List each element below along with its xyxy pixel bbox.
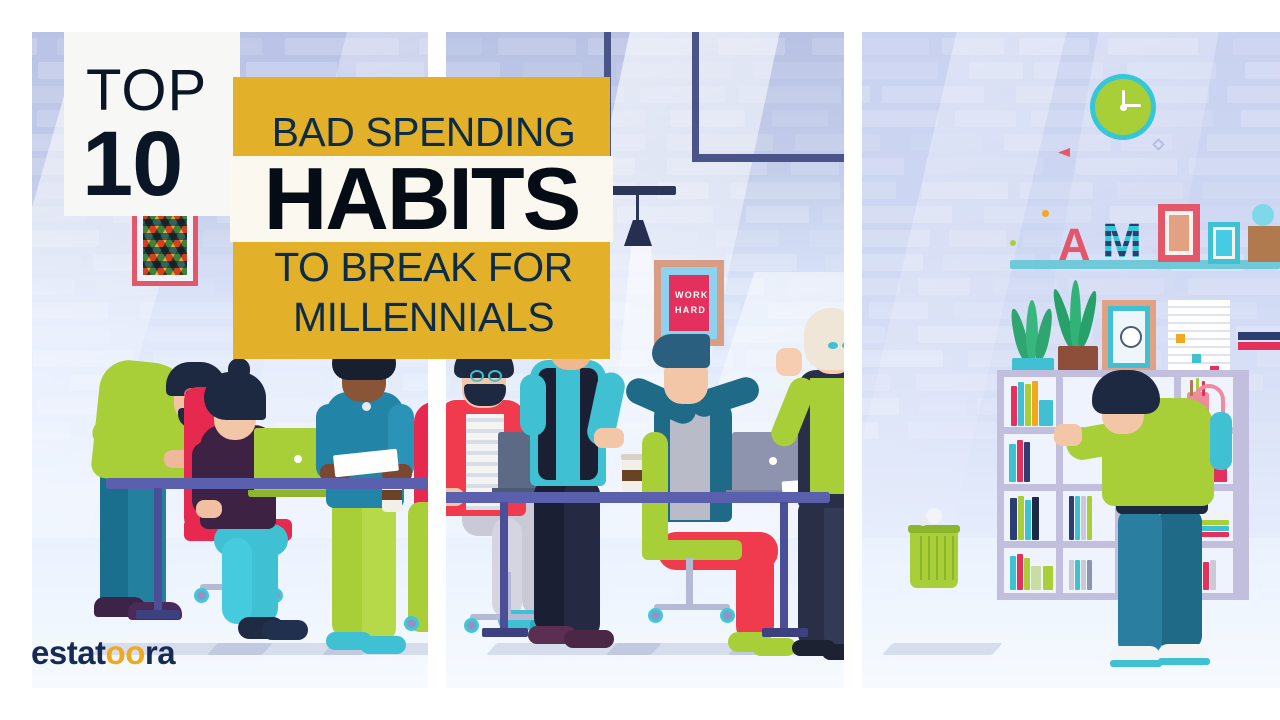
coffee-cup-takeaway — [622, 458, 642, 492]
books-flat-top — [1238, 342, 1280, 350]
headline-line-2: HABITS — [230, 154, 613, 244]
headline-line-1: BAD SPENDING — [251, 112, 596, 153]
ceiling-rail-2 — [692, 32, 699, 162]
brand-logo[interactable]: estatoora — [31, 636, 175, 669]
waste-bin — [910, 530, 958, 588]
logo-part-3: ra — [145, 634, 175, 671]
headline-line-3: TO BREAK FOR — [251, 247, 596, 288]
letter-m-glyph: M — [1102, 218, 1142, 266]
headline-number: 10 — [82, 118, 182, 210]
infographic-banner: WORK HARD — [0, 0, 1280, 720]
shelf-frame-pink — [1158, 204, 1200, 262]
headline-top-word: TOP — [86, 62, 207, 120]
logo-part-1: estat — [31, 634, 106, 671]
desk-frame-sheep — [1102, 300, 1156, 374]
poster-text: WORK HARD — [669, 275, 709, 331]
headline-line-4: MILLENNIALS — [251, 297, 596, 338]
shelf-frame-blue — [1208, 222, 1240, 264]
floor-shadow — [882, 643, 1003, 655]
decor-dot-2 — [1010, 240, 1016, 246]
decor-dot — [1042, 210, 1049, 217]
paper-stack — [1168, 300, 1230, 378]
letter-a-glyph: A — [1058, 222, 1091, 267]
panel-right-bookshelf: A M — [862, 32, 1280, 688]
poster-mat: WORK HARD — [661, 267, 717, 339]
pendant-lamp-cord-2 — [636, 195, 639, 223]
logo-part-2: oo — [106, 634, 145, 671]
ceiling-beam — [692, 154, 844, 162]
shelf-box-wood — [1248, 226, 1280, 262]
poster-line-2: HARD — [675, 305, 706, 315]
wall-clock — [1090, 74, 1156, 140]
books-flat-top-2 — [1238, 332, 1280, 340]
poster-line-1: WORK — [675, 290, 709, 300]
shelf-jar — [1252, 204, 1274, 226]
triangle-pattern — [143, 211, 187, 275]
